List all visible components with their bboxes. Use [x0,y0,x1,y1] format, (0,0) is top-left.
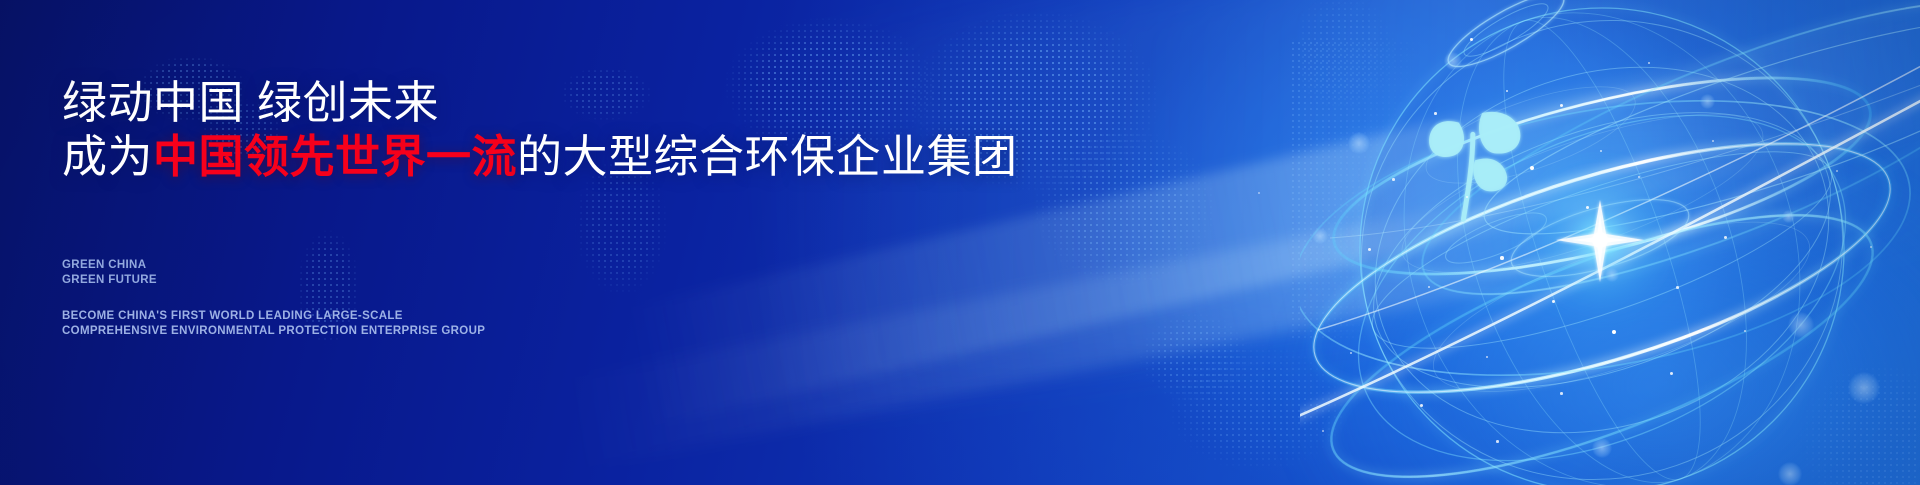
subtitle-english-long: BECOME CHINA'S FIRST WORLD LEADING LARGE… [62,309,485,340]
headline-line-2: 成为中国领先世界一流的大型综合环保企业集团 [62,132,1018,182]
subtitle-english-short: GREEN CHINA GREEN FUTURE [62,258,157,289]
subtitle-long-line-2: COMPREHENSIVE ENVIRONMENTAL PROTECTION E… [62,324,485,339]
headline-line-1: 绿动中国 绿创未来 [62,78,439,128]
subtitle-short-line-1: GREEN CHINA [62,258,157,273]
headline-line-2-accent: 中国领先世界一流 [153,131,517,182]
subtitle-long-line-1: BECOME CHINA'S FIRST WORLD LEADING LARGE… [62,309,485,324]
corner-glow-bottom-right [1280,125,1920,485]
glowing-wireframe-globe [1300,0,1920,485]
subtitle-short-line-2: GREEN FUTURE [62,273,157,288]
banner-text-block: 绿动中国 绿创未来 成为中国领先世界一流的大型综合环保企业集团 GREEN CH… [62,0,1112,485]
headline-line-2-suffix: 的大型综合环保企业集团 [517,131,1018,182]
hero-banner: 绿动中国 绿创未来 成为中国领先世界一流的大型综合环保企业集团 GREEN CH… [0,0,1920,485]
sprout-leaf-icon [1429,112,1520,219]
headline-line-2-prefix: 成为 [62,131,153,182]
light-burst [1524,164,1676,316]
